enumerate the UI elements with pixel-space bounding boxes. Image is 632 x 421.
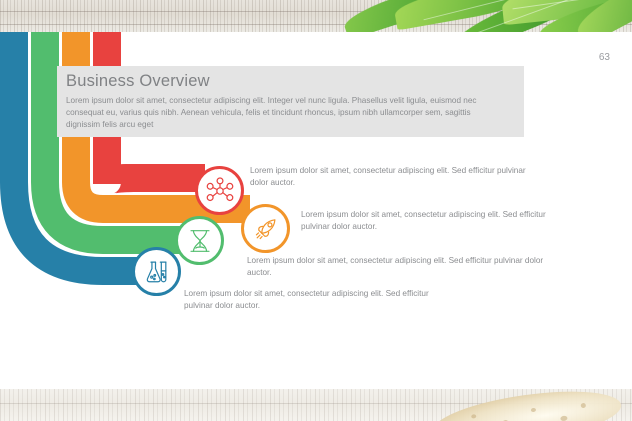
item-rocket-icon-circle[interactable] <box>241 204 290 253</box>
item-rocket-text: Lorem ipsum dolor sit amet, consectetur … <box>301 209 551 234</box>
item-hourglass-icon-circle[interactable] <box>175 216 224 265</box>
bread-crumb <box>580 403 586 409</box>
page-title: Business Overview <box>66 72 516 91</box>
item-hourglass-text: Lorem ipsum dolor sit amet, consectetur … <box>247 255 547 280</box>
network-nodes-icon <box>205 176 235 206</box>
top-photo-band <box>0 0 632 32</box>
bread-crumb <box>531 408 537 413</box>
lab-flask-icon <box>142 257 172 287</box>
green-leaves-photo <box>332 0 632 32</box>
bottom-photo-band <box>0 389 632 421</box>
item-network-text: Lorem ipsum dolor sit amet, consectetur … <box>250 165 540 190</box>
page-intro-text: Lorem ipsum dolor sit amet, consectetur … <box>66 95 486 132</box>
item-network-icon-circle[interactable] <box>195 166 244 215</box>
rocket-icon <box>251 214 281 244</box>
slide-canvas: Business Overview Lorem ipsum dolor sit … <box>0 0 632 421</box>
bread-crumb <box>560 415 568 421</box>
page-number: 63 <box>599 52 610 63</box>
bread-crumb <box>471 414 477 419</box>
hourglass-icon <box>185 226 215 256</box>
item-lab-text: Lorem ipsum dolor sit amet, consectetur … <box>184 288 449 313</box>
item-lab-icon-circle[interactable] <box>132 247 181 296</box>
